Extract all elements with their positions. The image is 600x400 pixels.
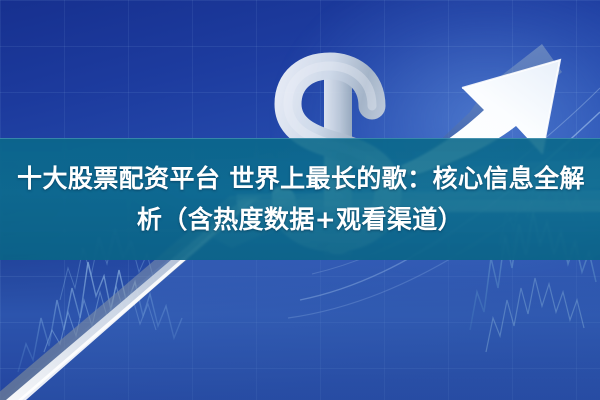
title-line-1: 十大股票配资平台 世界上最长的歌：核心信息全解: [15, 158, 585, 199]
page-title: 十大股票配资平台 世界上最长的歌：核心信息全解 析（含热度数据+观看渠道）: [0, 138, 600, 260]
banner-image: 十大股票配资平台 世界上最长的歌：核心信息全解 析（含热度数据+观看渠道）: [0, 0, 600, 400]
title-line-2: 析（含热度数据+观看渠道）: [137, 199, 463, 240]
